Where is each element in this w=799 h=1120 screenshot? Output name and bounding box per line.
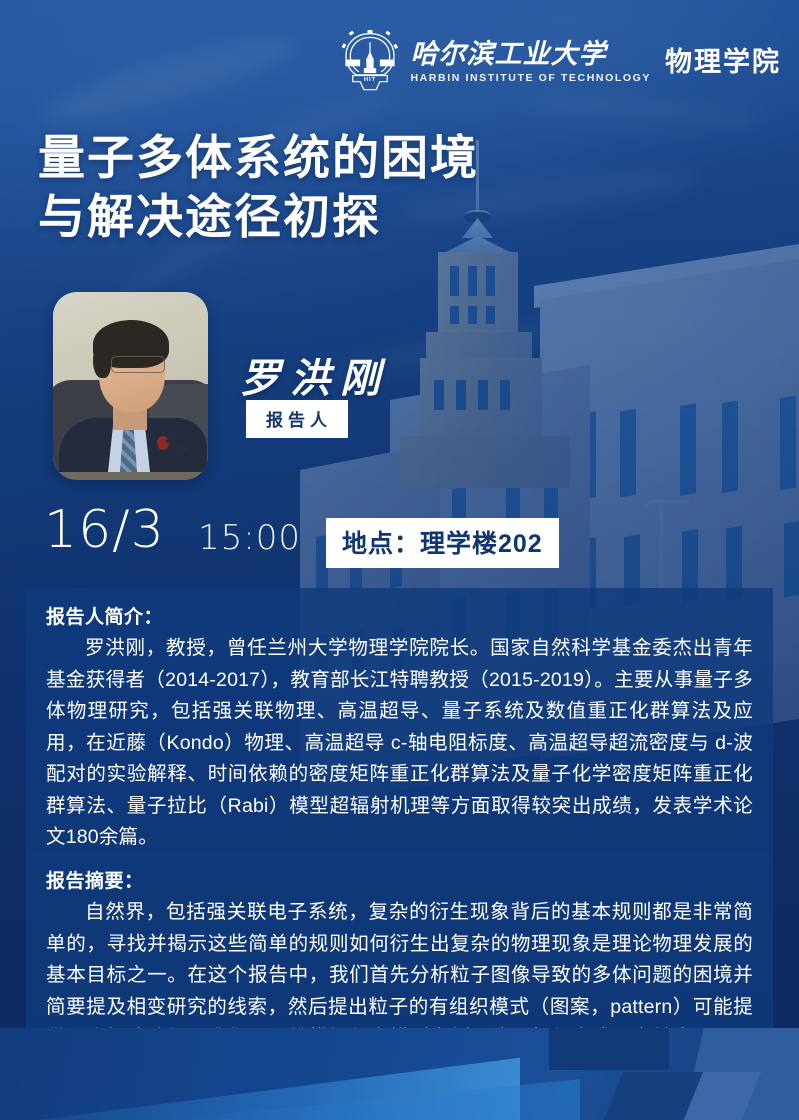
eyeglasses-icon bbox=[111, 356, 165, 373]
desk-edge bbox=[53, 472, 208, 480]
logo-year-text: 1920 bbox=[363, 69, 375, 75]
school-name-cn: 物理学院 bbox=[665, 40, 781, 85]
title-line-1: 量子多体系统的困境 bbox=[38, 128, 558, 187]
hit-emblem-icon: 1920 HIT bbox=[339, 30, 401, 94]
poster-title: 量子多体系统的困境 与解决途径初探 bbox=[38, 128, 558, 246]
event-time: 15:00 bbox=[198, 518, 301, 558]
footer-dark-block bbox=[549, 1028, 669, 1070]
abstract-heading: 报告摘要： bbox=[46, 866, 753, 893]
title-line-2: 与解决途径初探 bbox=[38, 187, 558, 246]
poster-root: 1920 HIT 哈尔滨工业大学 HARBIN INSTITUTE OF TEC… bbox=[0, 0, 799, 1120]
speaker-photo bbox=[53, 292, 208, 480]
bio-heading: 报告人简介： bbox=[46, 602, 753, 629]
university-name-cn: 哈尔滨工业大学 bbox=[411, 41, 652, 68]
university-name-en: HARBIN INSTITUTE OF TECHNOLOGY bbox=[411, 73, 652, 84]
speaker-name: 罗洪刚 bbox=[240, 346, 390, 404]
bio-body: 罗洪刚，教授，曾任兰州大学物理学院院长。国家自然科学基金委杰出青年基金获得者（2… bbox=[46, 633, 753, 854]
event-location-badge: 地点：理学楼202 bbox=[326, 518, 559, 568]
speaker-role-badge: 报告人 bbox=[246, 400, 348, 438]
university-name-block: 哈尔滨工业大学 HARBIN INSTITUTE OF TECHNOLOGY bbox=[411, 41, 652, 84]
poster-header: 1920 HIT 哈尔滨工业大学 HARBIN INSTITUTE OF TEC… bbox=[0, 30, 781, 94]
event-date: 16/3 bbox=[44, 500, 165, 560]
logo-abbr-text: HIT bbox=[363, 77, 375, 83]
hair-side bbox=[93, 340, 111, 378]
footer-decoration bbox=[0, 1028, 799, 1120]
speaker-bio-panel: 报告人简介： 罗洪刚，教授，曾任兰州大学物理学院院长。国家自然科学基金委杰出青年… bbox=[26, 588, 773, 870]
